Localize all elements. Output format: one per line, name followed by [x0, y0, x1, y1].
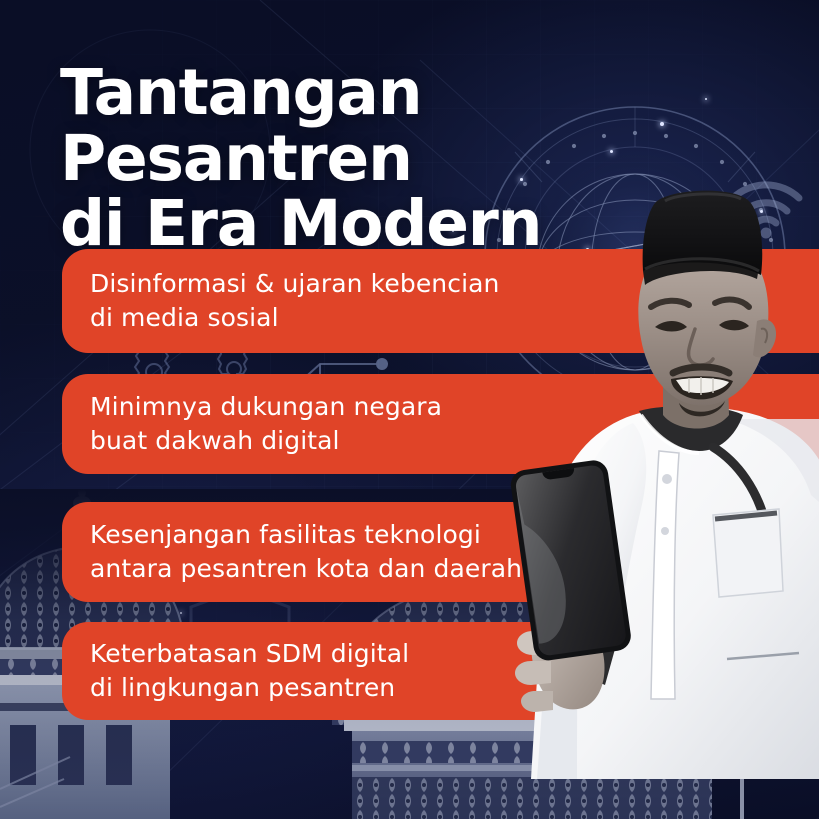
- challenge-card-4-text: Keterbatasan SDM digital di lingkungan p…: [62, 637, 429, 705]
- challenge-card-3[interactable]: Kesenjangan fasilitas teknologi antara p…: [62, 502, 819, 602]
- challenge-card-3-text: Kesenjangan fasilitas teknologi antara p…: [62, 518, 542, 586]
- poster-canvas: Tantangan Pesantren di Era Modern Disinf…: [0, 0, 819, 819]
- challenge-card-2-text: Minimnya dukungan negara buat dakwah dig…: [62, 390, 462, 458]
- challenge-card-1[interactable]: Disinformasi & ujaran kebencian di media…: [62, 249, 819, 353]
- challenge-card-1-text: Disinformasi & ujaran kebencian di media…: [62, 267, 520, 335]
- challenge-card-2[interactable]: Minimnya dukungan negara buat dakwah dig…: [62, 374, 819, 474]
- challenge-card-list: Disinformasi & ujaran kebencian di media…: [0, 0, 819, 819]
- challenge-card-4[interactable]: Keterbatasan SDM digital di lingkungan p…: [62, 622, 819, 720]
